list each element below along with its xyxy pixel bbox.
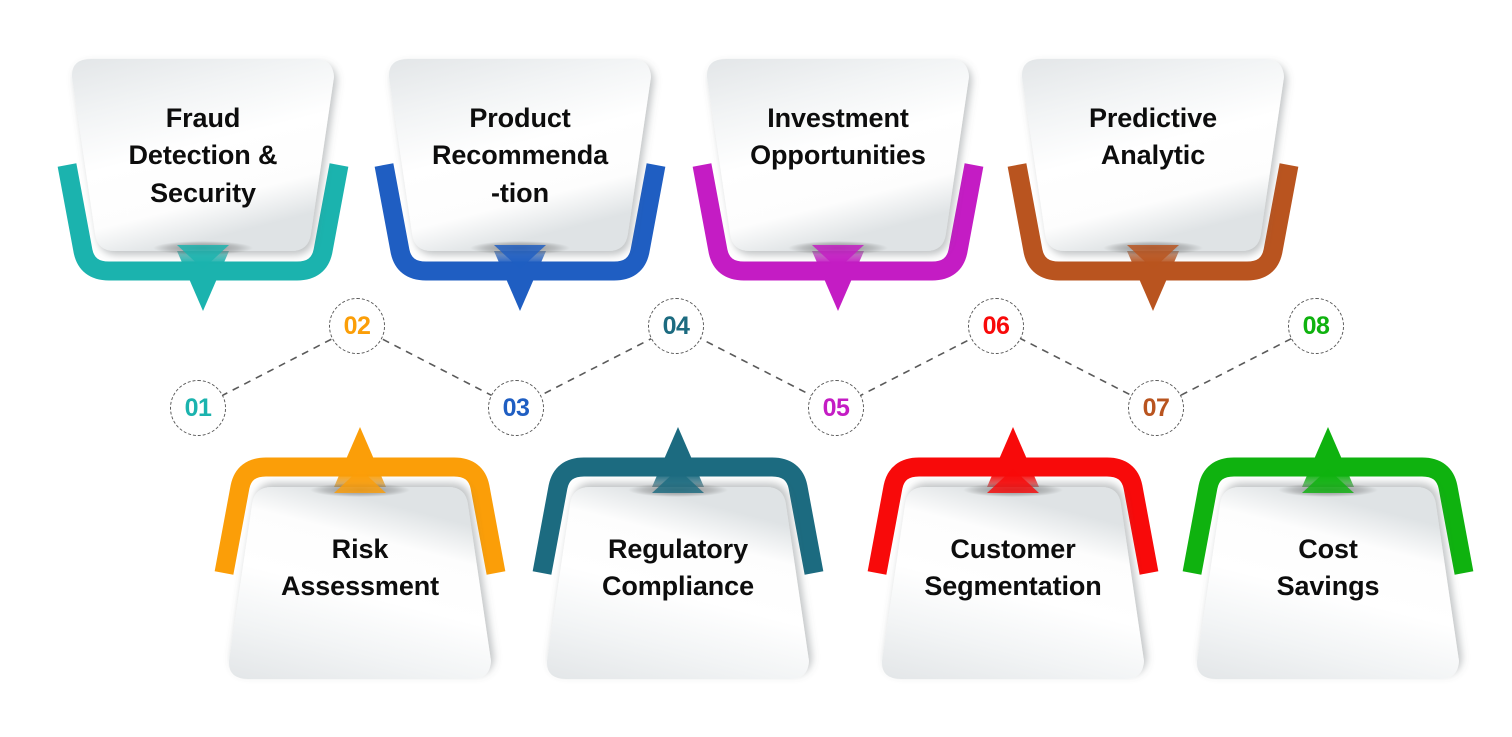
step-circle-05[interactable]: 05 <box>808 380 864 436</box>
step-number-label: 04 <box>663 314 690 339</box>
step-circle-03[interactable]: 03 <box>488 380 544 436</box>
step-circle-06[interactable]: 06 <box>968 298 1024 354</box>
step-number-label: 02 <box>344 314 371 339</box>
step-number-label: 07 <box>1143 396 1170 421</box>
connector-zigzag-line <box>0 0 1512 737</box>
infographic-canvas: Fraud Detection & Security <box>0 0 1512 737</box>
step-number-label: 06 <box>983 314 1010 339</box>
step-number-label: 01 <box>185 396 212 421</box>
step-circle-04[interactable]: 04 <box>648 298 704 354</box>
step-circle-07[interactable]: 07 <box>1128 380 1184 436</box>
step-number-label: 03 <box>503 396 530 421</box>
step-number-label: 08 <box>1303 314 1330 339</box>
step-circle-01[interactable]: 01 <box>170 380 226 436</box>
step-number-label: 05 <box>823 396 850 421</box>
step-circle-02[interactable]: 02 <box>329 298 385 354</box>
step-circle-08[interactable]: 08 <box>1288 298 1344 354</box>
